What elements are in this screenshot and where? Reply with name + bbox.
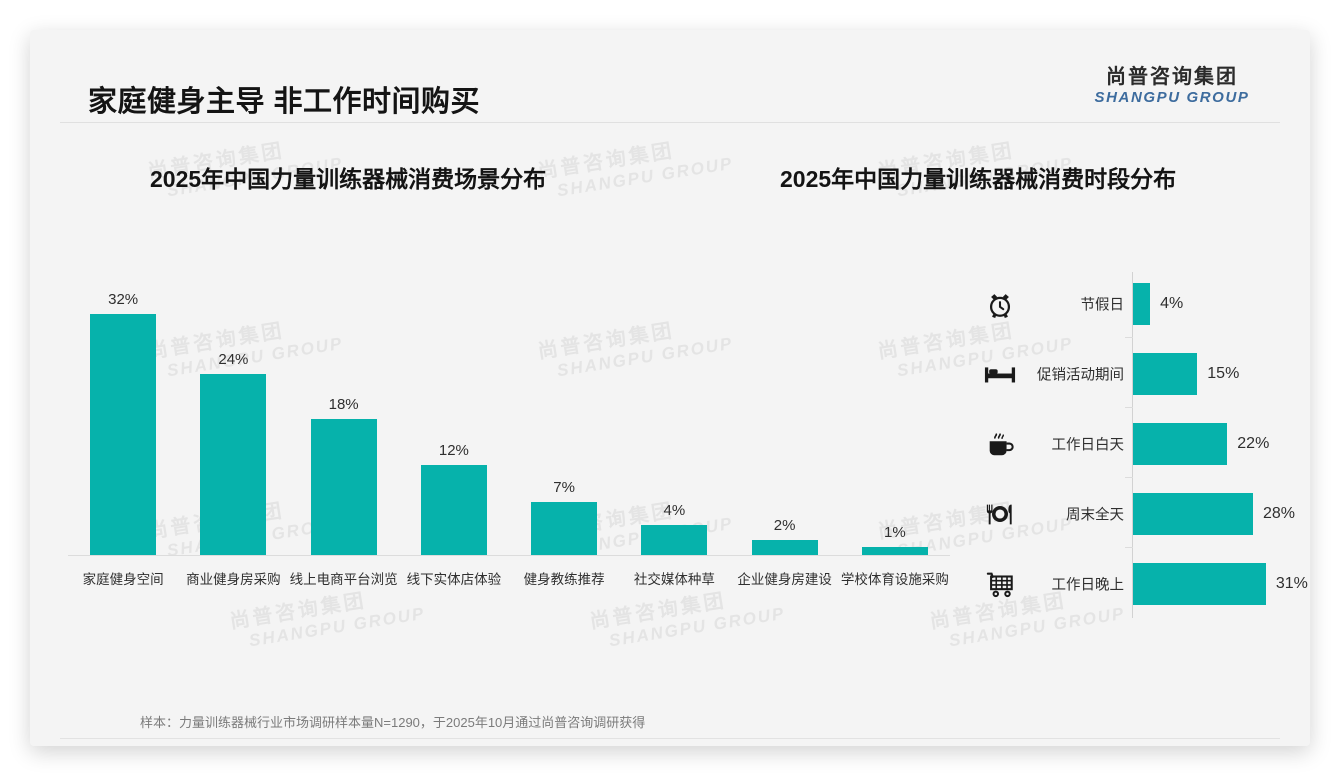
sample-note: 样本：力量训练器械行业市场调研样本量N=1290，于2025年10月通过尚普咨询… <box>140 712 645 731</box>
bar-fill[interactable] <box>1133 493 1253 535</box>
column-bar-value: 12% <box>439 442 469 459</box>
bar-chart-tick <box>1125 407 1133 408</box>
column-bar-value: 1% <box>884 524 906 541</box>
column-bar-item[interactable]: 32% <box>68 255 178 555</box>
column-category-label: 企业健身房建设 <box>730 568 840 588</box>
bar-fill[interactable] <box>1133 283 1150 325</box>
bar-value-label: 31% <box>1276 575 1308 593</box>
column-bar-item[interactable]: 2% <box>730 255 840 555</box>
column-bar[interactable] <box>862 547 928 555</box>
bar-category-label: 节假日 <box>1081 294 1125 315</box>
column-category-label: 线上电商平台浏览 <box>289 568 399 588</box>
logo-chinese-text: 尚普咨询集团 <box>1072 66 1272 88</box>
column-chart-plot: 32%24%18%12%7%4%2%1% <box>68 255 950 555</box>
shopping-cart-icon <box>983 567 1017 601</box>
column-bar[interactable] <box>421 465 487 556</box>
bar-chart-row[interactable]: 工作日白天22% <box>965 420 1285 468</box>
logo-english-text: SHANGPU GROUP <box>1072 89 1272 107</box>
dining-plate-icon <box>983 497 1017 531</box>
column-bar-item[interactable]: 7% <box>509 255 619 555</box>
column-category-label: 社交媒体种草 <box>619 568 729 588</box>
bar-fill[interactable] <box>1133 423 1227 465</box>
page-title: 家庭健身主导 非工作时间购买 <box>88 78 480 120</box>
bar-category-label: 工作日白天 <box>1052 434 1125 455</box>
column-bar-item[interactable]: 12% <box>399 255 509 555</box>
column-bar-value: 7% <box>553 479 575 496</box>
bar-chart-row[interactable]: 节假日4% <box>965 280 1285 328</box>
right-chart-title: 2025年中国力量训练器械消费时段分布 <box>780 160 1176 194</box>
column-bar-item[interactable]: 18% <box>289 255 399 555</box>
column-category-label: 家庭健身空间 <box>68 568 178 588</box>
column-category-label: 健身教练推荐 <box>509 568 619 588</box>
bar-chart-row[interactable]: 周末全天28% <box>965 490 1285 538</box>
column-bar-item[interactable]: 1% <box>840 255 950 555</box>
column-bar-value: 32% <box>108 291 138 308</box>
column-chart-baseline <box>68 555 950 556</box>
slide-card: 尚普咨询集团 SHANGPU GROUP 尚普咨询集团 SHANGPU GROU… <box>30 30 1310 746</box>
coffee-mug-icon <box>983 427 1017 461</box>
bar-chart-row[interactable]: 促销活动期间15% <box>965 350 1285 398</box>
consumption-time-bar-chart: 节假日4%促销活动期间15%工作日白天22%周末全天28%工作日晚上31% <box>965 272 1285 622</box>
column-bar-value: 24% <box>218 351 248 368</box>
column-bar[interactable] <box>531 502 597 555</box>
bar-category-label: 促销活动期间 <box>1037 364 1124 385</box>
alarm-clock-icon <box>983 287 1017 321</box>
consumption-scenario-column-chart: 32%24%18%12%7%4%2%1% 家庭健身空间商业健身房采购线上电商平台… <box>60 248 950 628</box>
column-bar[interactable] <box>641 525 707 555</box>
left-chart-title: 2025年中国力量训练器械消费场景分布 <box>150 160 546 194</box>
bar-value-label: 28% <box>1263 505 1295 523</box>
column-category-label: 商业健身房采购 <box>178 568 288 588</box>
slide-footer: ©2025.12 SHANGPU GROUP www.shangpu-china… <box>30 739 1310 746</box>
bar-chart-tick <box>1125 547 1133 548</box>
column-bar-value: 2% <box>774 517 796 534</box>
column-bar[interactable] <box>90 314 156 555</box>
column-category-label: 线下实体店体验 <box>399 568 509 588</box>
column-bar[interactable] <box>200 374 266 555</box>
bar-chart-row[interactable]: 工作日晚上31% <box>965 560 1285 608</box>
bed-icon <box>983 357 1017 391</box>
column-bar[interactable] <box>311 419 377 555</box>
column-bar-value: 18% <box>329 396 359 413</box>
bar-value-label: 22% <box>1237 435 1269 453</box>
bar-fill[interactable] <box>1133 563 1266 605</box>
column-bar-item[interactable]: 24% <box>178 255 288 555</box>
bar-category-label: 周末全天 <box>1066 504 1124 525</box>
bar-chart-tick <box>1125 337 1133 338</box>
column-bar[interactable] <box>752 540 818 555</box>
bar-value-label: 4% <box>1160 295 1183 313</box>
slide-header: 家庭健身主导 非工作时间购买 尚普咨询集团 SHANGPU GROUP <box>30 30 1310 122</box>
bar-chart-tick <box>1125 477 1133 478</box>
bar-value-label: 15% <box>1207 365 1239 383</box>
brand-logo: 尚普咨询集团 SHANGPU GROUP <box>1072 66 1272 107</box>
header-divider <box>60 122 1280 123</box>
column-category-label: 学校体育设施采购 <box>840 568 950 588</box>
column-bar-value: 4% <box>664 502 686 519</box>
column-chart-category-labels: 家庭健身空间商业健身房采购线上电商平台浏览线下实体店体验健身教练推荐社交媒体种草… <box>68 568 950 588</box>
bar-category-label: 工作日晚上 <box>1052 574 1125 595</box>
charts-region: 2025年中国力量训练器械消费场景分布 2025年中国力量训练器械消费时段分布 … <box>30 130 1310 670</box>
bar-fill[interactable] <box>1133 353 1197 395</box>
column-bar-item[interactable]: 4% <box>619 255 729 555</box>
